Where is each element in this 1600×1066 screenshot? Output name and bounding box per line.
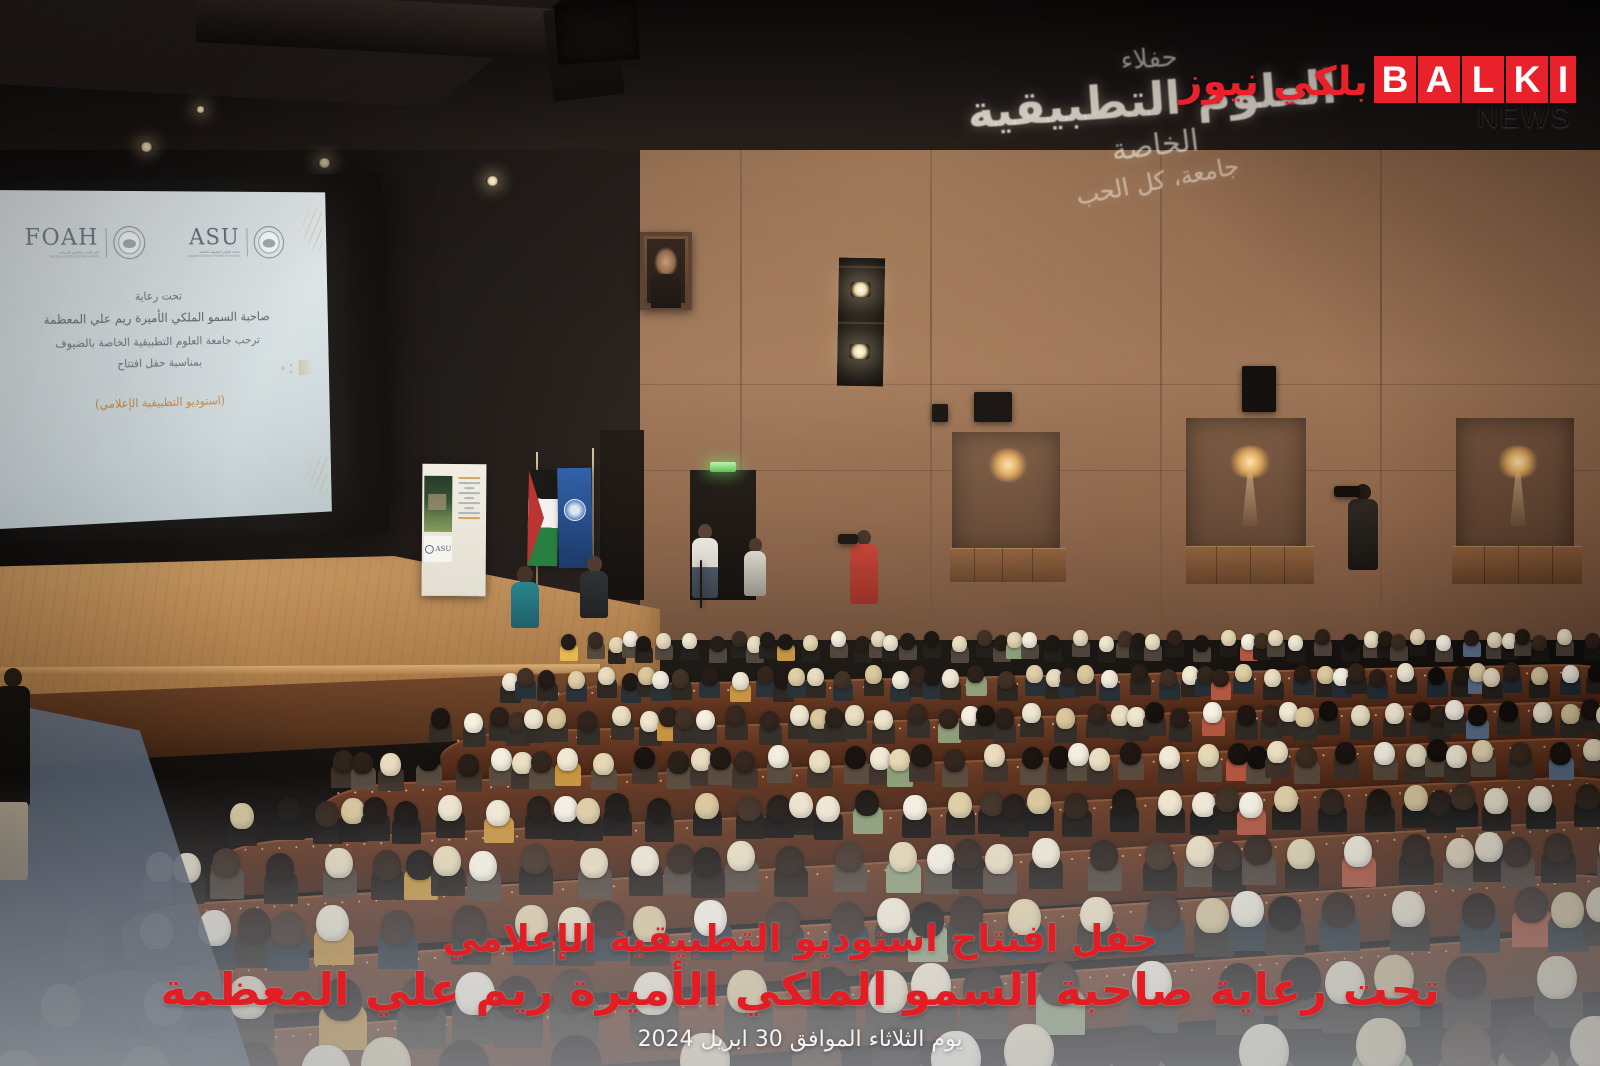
audience-member	[940, 669, 957, 698]
audience-member	[404, 850, 432, 898]
audience-member	[552, 796, 576, 837]
audience-member	[331, 750, 352, 786]
audience-member	[1156, 790, 1180, 831]
audience-member	[1267, 630, 1282, 656]
audience-member	[1126, 707, 1145, 740]
news-photo-card: حفلاء العلوم التطبيقية الخاصة جامعة، كل …	[0, 0, 1600, 1066]
audience-member	[1098, 636, 1113, 662]
photographer	[692, 524, 718, 598]
stage-light-alcove	[837, 258, 885, 387]
asu-logo: ASU جامعة العلوم التطبيقية الخاصة Applie…	[187, 226, 284, 259]
audience-member	[872, 710, 891, 743]
audience-member	[844, 746, 865, 782]
audience-member	[1072, 630, 1087, 656]
audience-member	[591, 753, 612, 789]
audience-member	[1075, 665, 1092, 694]
audience-member	[566, 671, 583, 700]
banner-seal-icon	[424, 544, 433, 553]
foah-sub-en: Faculty of Arts and Humanities	[25, 256, 99, 260]
audience-member	[577, 711, 596, 744]
audience-member	[694, 710, 713, 743]
audience-member	[1158, 746, 1179, 782]
audience-member	[730, 672, 747, 701]
ceiling-light-icon	[196, 106, 205, 113]
audience-member	[1110, 789, 1134, 830]
audience-member	[431, 846, 459, 894]
screen-highlight-line: (استوديو التطبيقية الإعلامي)	[0, 390, 323, 415]
audience-member	[833, 842, 861, 890]
audience-member	[1399, 834, 1427, 882]
audience-member	[1471, 740, 1492, 776]
audience-member	[529, 751, 550, 787]
audience-member	[1237, 792, 1261, 833]
audience-member	[951, 636, 966, 662]
audience-member	[975, 705, 994, 738]
stage-spotlight-icon	[850, 282, 870, 297]
audience-member	[1265, 741, 1286, 777]
framed-portrait	[640, 232, 692, 310]
audience-member	[1025, 788, 1049, 829]
watermark-letter-b: B	[1374, 56, 1416, 103]
jordan-flag	[527, 470, 559, 567]
audience-member	[923, 668, 940, 697]
audience-member	[830, 631, 845, 657]
audience-member	[1062, 793, 1086, 834]
audience-member	[1396, 663, 1413, 692]
audience-member	[983, 844, 1011, 892]
audience-member	[537, 670, 554, 699]
audience-member	[1473, 832, 1501, 880]
asu-seal-icon	[253, 226, 284, 258]
audience-member	[1549, 742, 1570, 778]
audience-member	[1184, 836, 1212, 884]
audience-member	[1341, 634, 1356, 660]
screen-corner-ornament	[299, 200, 323, 259]
audience-member	[587, 632, 602, 658]
audience-member	[1383, 703, 1402, 736]
audience-member	[1118, 742, 1139, 778]
audience-member	[788, 705, 807, 738]
caption-block: حفل افتتاح استوديو التطبيقية الإعلامي تح…	[0, 917, 1600, 1052]
asu-flag	[557, 468, 593, 569]
audience-member	[1293, 707, 1312, 740]
audience-member	[1293, 665, 1310, 694]
audience-member	[519, 844, 547, 892]
asu-rollup-banner: ASU	[422, 464, 487, 596]
audience-member	[864, 665, 881, 694]
audience-member	[1435, 635, 1450, 661]
audience-member	[1560, 704, 1579, 737]
audience-member	[525, 796, 549, 837]
audience-member	[597, 667, 614, 696]
niche-light-glow	[988, 448, 1028, 482]
audience-member	[736, 796, 760, 837]
audience-member	[854, 636, 869, 662]
audience-member	[756, 666, 773, 695]
audience-member	[515, 668, 532, 697]
audience-member	[1514, 629, 1529, 655]
audience-member	[1213, 786, 1237, 827]
audience-member	[1212, 841, 1240, 889]
audience-member	[436, 795, 460, 836]
audience-member	[1169, 708, 1188, 741]
audience-member	[1410, 702, 1429, 735]
audience-member	[1342, 836, 1370, 884]
audience-member	[787, 792, 811, 833]
audience-member	[621, 673, 638, 702]
audience-member	[1202, 702, 1221, 735]
audience-member	[1226, 743, 1247, 779]
audience-member	[611, 706, 630, 739]
audience-member	[1367, 669, 1384, 698]
niche-light-glow	[1228, 446, 1272, 478]
audience-member	[1482, 668, 1499, 697]
audience-member	[671, 669, 688, 698]
audience-member	[1020, 747, 1041, 783]
audience-member	[699, 667, 716, 696]
audience-member	[545, 708, 564, 741]
audience-member	[1595, 705, 1600, 738]
screen-text-block: تحت رعاية صاحبة السمو الملكي الأميرة ريم…	[0, 279, 323, 424]
audience-member	[924, 844, 952, 892]
audience-member	[882, 635, 897, 661]
audience-member	[664, 844, 692, 892]
audience-member	[1021, 632, 1036, 658]
audience-member	[1427, 667, 1444, 696]
audience-member	[1529, 667, 1546, 696]
watermark-letter-boxes: B A L K I	[1374, 56, 1576, 103]
audience-member	[603, 793, 627, 834]
audience-member	[339, 798, 363, 839]
watermark-arabic-label: بلكي نيوز	[1180, 62, 1368, 102]
watermark-letter-i: I	[1550, 56, 1576, 103]
audience-member	[645, 798, 669, 839]
audience-member	[560, 634, 575, 660]
audience-member	[1409, 629, 1424, 655]
audience-member	[1318, 789, 1342, 830]
audience-member	[1088, 840, 1116, 888]
audience-member	[1350, 705, 1369, 738]
audience-member	[555, 748, 576, 784]
audience-member	[629, 846, 657, 894]
standing-attendee	[0, 668, 30, 878]
audience-member	[1508, 742, 1529, 778]
audience-member	[1020, 703, 1039, 736]
audience-member	[1220, 630, 1235, 656]
audience-member	[938, 709, 957, 742]
audience-member	[1263, 669, 1280, 698]
foah-abbr: FOAH	[24, 226, 98, 249]
audience-member	[1363, 631, 1378, 657]
audience-member	[456, 754, 477, 790]
audience-member	[824, 708, 843, 741]
audience-member	[759, 632, 774, 658]
audience-member	[1285, 839, 1313, 887]
audience-member	[886, 842, 914, 890]
audience-member	[1130, 664, 1147, 693]
asu-sub-en: Applied Science Private University	[188, 255, 241, 259]
audience-member	[1048, 746, 1069, 782]
audience-member	[578, 848, 606, 896]
audience-member	[1586, 664, 1600, 693]
audience-member	[228, 803, 252, 844]
audience-member	[378, 753, 399, 789]
audience-member	[1531, 702, 1550, 735]
audience-member	[1444, 745, 1465, 781]
audience-member	[635, 636, 650, 662]
audience-member	[966, 665, 983, 694]
audience-member	[725, 705, 744, 738]
audience-member	[952, 839, 980, 887]
audience-member	[467, 851, 495, 899]
caption-line-1: حفل افتتاح استوديو التطبيقية الإعلامي	[0, 917, 1600, 961]
audience-member	[1235, 705, 1254, 738]
screen-line-2: صاحبة السمو الملكي الأميرة ريم علي المعظ…	[0, 308, 321, 329]
audience-member	[814, 796, 838, 837]
audience-member	[731, 631, 746, 657]
audience-member	[1029, 838, 1057, 886]
audience-member	[777, 634, 792, 660]
audience-member	[1574, 784, 1598, 825]
audience-member	[1272, 786, 1296, 827]
audience-member	[416, 749, 437, 785]
audience-member	[655, 633, 670, 659]
audience-member	[1129, 633, 1144, 659]
audience-member	[1365, 789, 1389, 830]
audience-member	[759, 711, 778, 744]
audience-member	[361, 797, 385, 838]
audience-member	[942, 749, 963, 785]
audience-member	[489, 748, 510, 784]
niche-light-glow	[1496, 446, 1540, 478]
audience-member	[1482, 788, 1506, 829]
audience-member	[681, 633, 696, 659]
audience-member	[1541, 833, 1569, 881]
ceiling-light-icon	[318, 158, 331, 168]
audience-member	[787, 668, 804, 697]
audience-member	[1444, 700, 1463, 733]
audience-member	[351, 752, 372, 788]
audience-member	[651, 671, 668, 700]
audience-member	[1526, 786, 1550, 827]
screen-line-4: بمناسبة حفل افتتاح	[0, 353, 322, 375]
audience-member	[853, 790, 877, 831]
audience-member	[484, 800, 508, 841]
audience-member	[1502, 662, 1519, 691]
audience-member	[1497, 701, 1516, 734]
audience-member	[978, 791, 1002, 832]
audience-member	[1346, 663, 1363, 692]
ceiling-light-icon	[486, 176, 499, 186]
audience-member	[1402, 785, 1426, 826]
audience-member	[909, 744, 930, 780]
audience-member	[371, 850, 399, 898]
wall-wood-rail	[1186, 546, 1314, 584]
audience-member	[489, 707, 508, 740]
audience-member	[1373, 742, 1394, 778]
screen-line-1: تحت رعاية	[0, 287, 320, 305]
audience-member	[997, 671, 1014, 700]
audience-member	[1193, 635, 1208, 661]
audience-member	[1390, 634, 1405, 660]
audience-member	[907, 704, 926, 737]
wall-speaker	[1242, 366, 1276, 412]
audience-member	[1316, 666, 1333, 695]
audience-member	[463, 713, 482, 746]
audience-member	[899, 633, 914, 659]
audience-member	[1466, 705, 1485, 738]
audience-member	[1000, 794, 1024, 835]
audience-member	[1333, 742, 1354, 778]
audience-member	[1531, 635, 1546, 661]
wall-wood-rail	[1452, 546, 1582, 584]
audience-member	[1404, 744, 1425, 780]
audience-member	[1294, 746, 1315, 782]
audience-member	[976, 630, 991, 656]
audience-member	[946, 792, 970, 833]
audience-member	[1067, 743, 1088, 779]
wall-speaker	[974, 392, 1012, 422]
audience-member	[1287, 635, 1302, 661]
watermark-letter-a: A	[1418, 56, 1460, 103]
audience-member	[691, 847, 719, 895]
camera-icon	[838, 534, 858, 544]
audience-member	[774, 846, 802, 894]
audience-member	[1486, 632, 1501, 658]
foah-logo: FOAH كلية الآداب والعلوم الإنسانية Facul…	[24, 226, 145, 260]
audience-member	[1025, 665, 1042, 694]
screen-line-3: ترحب جامعة العلوم التطبيقية الخاصة بالضي…	[0, 331, 321, 352]
auditorium-photo: حفلاء العلوم التطبيقية الخاصة جامعة، كل …	[0, 0, 1600, 1066]
audience-member	[983, 744, 1004, 780]
audience-member	[1099, 670, 1116, 699]
audience-member	[1556, 629, 1571, 655]
ceiling-light-icon	[140, 142, 153, 152]
audience-member	[608, 637, 623, 663]
audience-member	[574, 798, 598, 839]
audience-member	[429, 708, 448, 741]
watermark-letter-k: K	[1506, 56, 1548, 103]
audience-member	[673, 708, 692, 741]
audience-member	[887, 749, 908, 785]
audience-member	[1143, 702, 1162, 735]
audience-member	[1501, 837, 1529, 885]
screen-logo-row: ASU جامعة العلوم التطبيقية الخاصة Applie…	[0, 212, 327, 274]
audience-member	[264, 853, 292, 901]
audience-member	[210, 848, 238, 896]
audience-member	[1144, 634, 1159, 660]
audience-member	[1087, 748, 1108, 784]
audience-member	[275, 797, 299, 838]
audience-member	[1044, 635, 1059, 661]
balki-news-watermark: بلكي نيوز B A L K I NEWS	[1180, 56, 1576, 133]
caption-date: يوم الثلاثاء الموافق 30 ابريل 2024	[0, 1027, 1600, 1052]
audience-member	[1426, 790, 1450, 831]
audience-member	[1159, 669, 1176, 698]
audience-member	[323, 848, 351, 896]
audience-member	[902, 795, 926, 836]
audience-member	[844, 705, 863, 738]
audience-member	[923, 631, 938, 657]
audience-member	[833, 671, 850, 700]
audience-member	[1560, 665, 1577, 694]
audience-member	[1582, 739, 1600, 775]
audience-member	[993, 708, 1012, 741]
audience-member	[1054, 708, 1073, 741]
audience-member	[1233, 664, 1250, 693]
stage-spotlight-icon	[849, 344, 869, 359]
caption-line-2: تحت رعاية صاحبة السمو الملكي الأميرة ريم…	[0, 963, 1600, 1017]
audience-member	[708, 747, 729, 783]
watermark-news-label: NEWS	[1477, 104, 1572, 133]
audience-member	[1242, 835, 1270, 883]
audience-member	[666, 751, 687, 787]
audience-member	[639, 711, 658, 744]
audience-member	[732, 751, 753, 787]
audience-member	[1165, 630, 1180, 656]
audience-member	[1197, 744, 1218, 780]
audience-member	[767, 745, 788, 781]
audience-member	[1451, 666, 1468, 695]
camera-icon	[1334, 486, 1360, 497]
projection-screen: ASU جامعة العلوم التطبيقية الخاصة Applie…	[0, 190, 332, 530]
screen-corner-ornament	[304, 446, 328, 505]
audience-member	[1463, 630, 1478, 656]
audience-member	[890, 671, 907, 700]
audience-member	[802, 635, 817, 661]
audience-member	[1006, 632, 1021, 658]
audience-member	[1314, 629, 1329, 655]
audience-member	[1443, 838, 1471, 886]
audience-member	[725, 841, 753, 889]
audience-member	[765, 795, 789, 836]
asu-abbr: ASU	[187, 227, 240, 249]
audience-member	[1584, 633, 1599, 659]
wall-speaker	[932, 404, 948, 422]
audience-member	[1211, 669, 1228, 698]
wall-wood-rail	[950, 548, 1066, 582]
audience-member	[1190, 792, 1214, 833]
watermark-letter-l: L	[1462, 56, 1504, 103]
audience-member	[1143, 840, 1171, 888]
audience-member	[1086, 704, 1105, 737]
audience-member	[392, 801, 416, 842]
audience-member	[1449, 784, 1473, 825]
audience-member	[1059, 668, 1076, 697]
audience-member	[313, 801, 337, 842]
foah-seal-icon	[113, 226, 146, 259]
audience-member	[1317, 701, 1336, 734]
ceiling-duct	[554, 0, 640, 65]
audience-member	[522, 709, 541, 742]
audience-member	[1246, 746, 1267, 782]
audience-member	[709, 636, 724, 662]
banner-abbr: ASU	[435, 545, 451, 553]
audience-member	[806, 668, 823, 697]
audience-member	[693, 793, 717, 834]
audience-member	[807, 750, 828, 786]
photographer	[744, 538, 766, 596]
audience-member	[632, 747, 653, 783]
exit-sign-icon	[710, 462, 736, 472]
